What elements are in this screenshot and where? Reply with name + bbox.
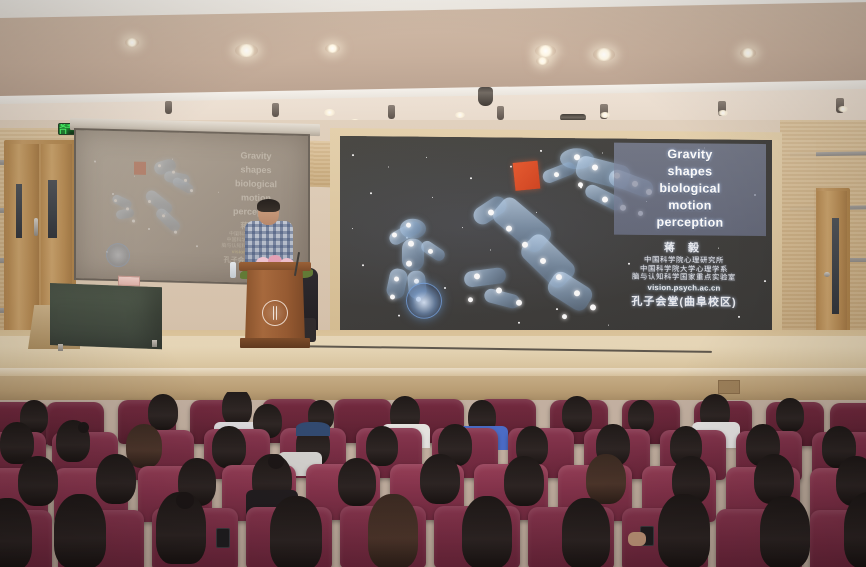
door-handle[interactable] — [34, 218, 38, 236]
downlight — [125, 38, 139, 47]
ceiling-spot-glow — [455, 112, 465, 118]
audience-head — [368, 494, 418, 567]
audience-seating — [0, 392, 866, 567]
audience-head — [148, 394, 178, 430]
table-leg — [152, 340, 157, 347]
draped-side-table — [50, 283, 162, 349]
vision-and-cognition-lab-logo — [406, 283, 442, 319]
projected-astronaut-center — [138, 190, 196, 248]
water-bottle — [230, 262, 236, 278]
audience-head — [420, 454, 460, 504]
wall-right-return — [782, 140, 816, 355]
auditorium-photo: 安全出口 — [0, 0, 866, 567]
ceiling-speaker — [478, 87, 493, 106]
hand — [628, 532, 646, 546]
audience-head — [338, 458, 376, 506]
door-vision-panel — [48, 180, 57, 238]
presenter-hair — [257, 199, 280, 212]
downlight — [740, 48, 756, 58]
slide-title-line: biological — [618, 180, 762, 198]
hair-bun — [176, 492, 194, 509]
slide-affiliation: 脑与认知科学国家重点实验室 — [600, 273, 768, 283]
projected-title-block: Gravity shapes biological motion percept… — [208, 148, 304, 221]
door-vision-panel — [832, 218, 839, 314]
ceiling-spot-glow — [838, 106, 848, 112]
track-light — [388, 105, 395, 119]
slide-title-panel: Gravity shapes biological motion percept… — [614, 143, 766, 236]
slide-credits: 蒋 毅 中国科学院心理研究所 中国科学院大学心理学系 脑与认知科学国家重点实验室… — [600, 238, 768, 309]
door-handle[interactable] — [824, 272, 830, 277]
audience-head — [776, 398, 804, 432]
audience-head — [760, 496, 810, 567]
projected-flag-patch — [134, 162, 146, 175]
lectern-top — [239, 262, 311, 271]
slide-title-line: perception — [618, 214, 762, 232]
downlight — [235, 44, 258, 57]
projected-title-line: perception — [208, 204, 304, 221]
audience-head — [270, 496, 322, 567]
slide-title-line: shapes — [618, 163, 762, 181]
astronaut-center — [444, 195, 624, 327]
audience-head — [54, 494, 106, 567]
track-light — [497, 106, 504, 120]
led-video-wall: Gravity shapes biological motion percept… — [340, 136, 772, 334]
slide-venue-label: 孔子会堂(曲阜校区) — [600, 292, 768, 310]
track-light — [272, 103, 279, 117]
audience-head — [586, 454, 626, 504]
projected-lab-logo — [106, 243, 130, 268]
slide-title-line: motion — [618, 197, 762, 215]
lectern-base — [240, 338, 310, 348]
audience-head — [504, 456, 544, 506]
downlight — [325, 44, 340, 53]
slide-speaker-name: 蒋 毅 — [600, 238, 768, 256]
right-side-door[interactable] — [814, 188, 850, 350]
ceiling-spot-glow — [718, 110, 728, 116]
audience-head — [222, 392, 252, 426]
audience-head — [126, 424, 162, 468]
audience-head — [628, 400, 654, 432]
hair-bun — [268, 454, 284, 469]
audience-head — [562, 396, 592, 432]
downlight — [593, 48, 615, 61]
audience-head — [96, 454, 136, 504]
audience-head — [18, 456, 58, 506]
table-leg — [58, 344, 63, 351]
ceiling-spot-glow — [600, 112, 610, 118]
door-vision-panel — [16, 184, 22, 238]
slide-title-line: Gravity — [618, 146, 762, 164]
downlight — [535, 45, 556, 57]
red-flag-patch — [513, 161, 541, 191]
ceiling-spot-glow — [324, 109, 335, 116]
hair-bun — [78, 422, 89, 433]
audience-head — [366, 426, 398, 466]
slide-website: vision.psych.ac.cn — [600, 282, 768, 293]
phone[interactable] — [216, 528, 230, 548]
audience-head — [658, 494, 710, 567]
downlight — [536, 57, 549, 65]
university-crest — [262, 300, 288, 326]
cap — [296, 422, 330, 436]
name-card — [118, 276, 140, 287]
audience-head — [462, 496, 512, 567]
audience-head — [212, 426, 246, 468]
audience-head — [562, 498, 610, 567]
track-light — [165, 101, 172, 114]
